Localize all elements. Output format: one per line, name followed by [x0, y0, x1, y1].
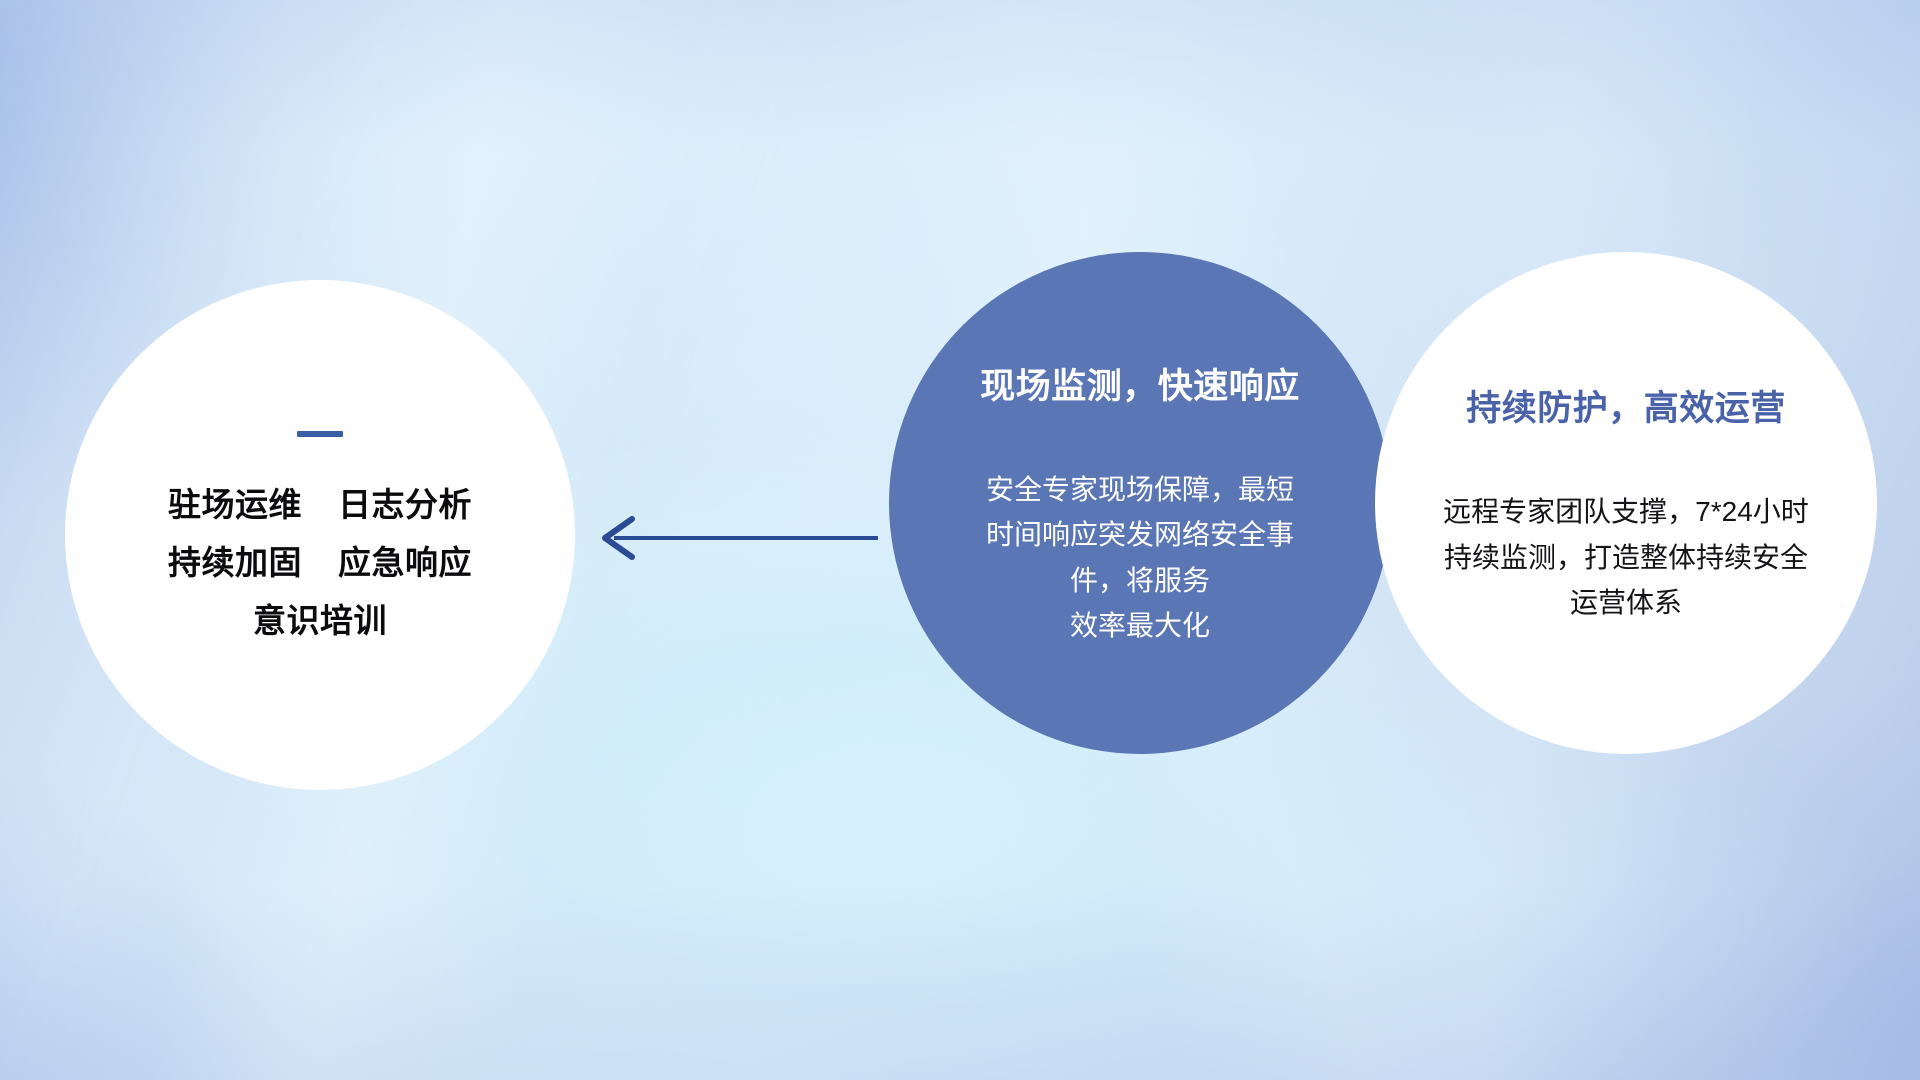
card-body: 安全专家现场保障，最短时间响应突发网络安全事件，将服务效率最大化 — [980, 467, 1300, 648]
card-title: 持续防护，高效运营 — [1466, 380, 1786, 431]
card-title: 现场监测，快速响应 — [980, 358, 1300, 409]
capability-tag: 驻场运维 — [168, 487, 302, 523]
capability-tag: 意识培训 — [253, 603, 387, 639]
card-onsite-monitoring: 现场监测，快速响应 安全专家现场保障，最短时间响应突发网络安全事件，将服务效率最… — [889, 252, 1391, 754]
capability-tag: 应急响应 — [338, 545, 472, 581]
card-body-line: 远程专家团队支撑，7*24 — [1443, 496, 1753, 527]
capability-tag-row: 驻场运维 日志分析 — [168, 487, 472, 523]
arrow-left-icon — [580, 505, 880, 571]
capability-tag: 日志分析 — [338, 487, 472, 523]
capability-tag: 持续加固 — [168, 545, 302, 581]
card-body: 远程专家团队支撑，7*24小时持续监测，打造整体持续安全运营体系 — [1431, 489, 1821, 625]
capability-circle: 驻场运维 日志分析 持续加固 应急响应 意识培训 — [65, 280, 575, 790]
flow-arrow — [580, 505, 880, 571]
card-body-line: 安全专家现场保障， — [986, 474, 1238, 505]
slide-canvas: 驻场运维 日志分析 持续加固 应急响应 意识培训 现场监测，快速响应 安全专家现… — [0, 0, 1920, 1080]
card-body-line: 效率最大化 — [980, 603, 1300, 648]
divider-dash-icon — [297, 431, 343, 437]
capability-tag-row: 意识培训 — [253, 603, 387, 639]
capability-tag-row: 持续加固 应急响应 — [168, 545, 472, 581]
capability-tag-list: 驻场运维 日志分析 持续加固 应急响应 意识培训 — [168, 487, 472, 640]
card-continuous-protection: 持续防护，高效运营 远程专家团队支撑，7*24小时持续监测，打造整体持续安全运营… — [1375, 252, 1877, 754]
